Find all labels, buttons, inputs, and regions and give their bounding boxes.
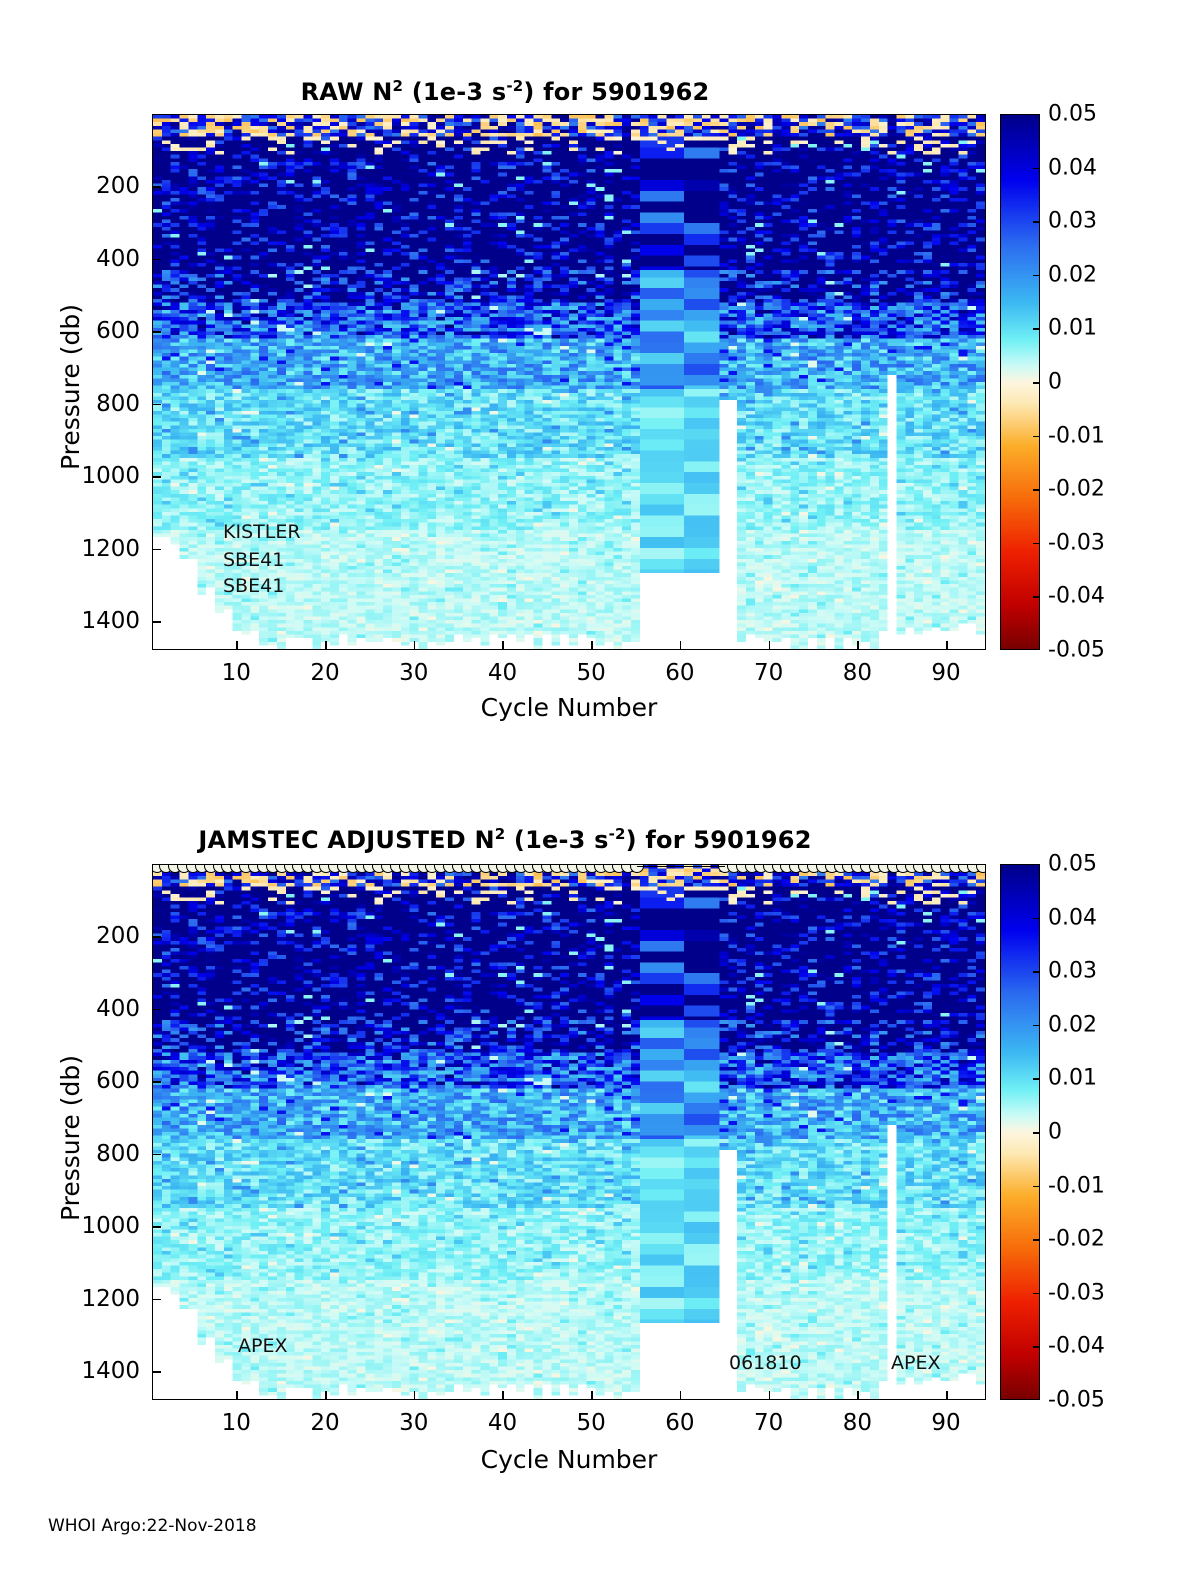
colorbar-tick-mark-2 [1033,971,1040,973]
colorbar-tick-label-4: 0.01 [1048,316,1097,341]
panel-adjusted-title: JAMSTEC ADJUSTED N2 (1e-3 s-2) for 59019… [0,826,1010,854]
x-axis-label-adjusted: Cycle Number [152,1445,986,1474]
title-text-tail: (1e-3 s [403,78,506,106]
colorbar-tick-label-10: -0.05 [1048,638,1105,663]
y-tick-mark-600 [152,331,161,333]
colorbar-tick-label-2: 0.03 [1048,959,1097,984]
colorbar-tick-mark-6 [1033,436,1040,438]
x-tick-mark-50 [591,1391,593,1400]
y-tick-label-400: 400 [0,246,140,272]
x-tick-label-50: 50 [577,1410,606,1436]
x-tick-label-70: 70 [754,1410,783,1436]
x-tick-mark-30 [414,1391,416,1400]
x-tick-mark-40 [502,1391,504,1400]
title-text-end: ) for 5901962 [626,826,812,854]
y-axis-label-adjusted: Pressure (db) [56,1055,85,1221]
y-tick-mark-800 [152,404,161,406]
colorbar-tick-mark-2 [1033,221,1040,223]
annotation-platform-apex-left: APEX [238,1335,287,1357]
colorbar-tick-label-0: 0.05 [1048,102,1097,127]
x-tick-label-40: 40 [488,1410,517,1436]
y-tick-label-400: 400 [0,996,140,1022]
y-axis-label-raw: Pressure (db) [56,304,85,470]
x-tick-mark-20 [325,641,327,650]
annotation-instrument-kistler: KISTLER [223,521,301,543]
x-tick-label-50: 50 [577,660,606,686]
y-tick-mark-200 [152,186,161,188]
colorbar-tick-label-1: 0.04 [1048,905,1097,930]
colorbar-tick-label-3: 0.02 [1048,1012,1097,1037]
x-tick-mark-60 [680,641,682,650]
colorbar-tick-label-5: 0 [1048,1120,1062,1145]
figure-footer: WHOI Argo:22-Nov-2018 [48,1516,257,1536]
x-tick-mark-10 [236,1391,238,1400]
colorbar-tick-label-6: -0.01 [1048,1173,1105,1198]
x-tick-mark-70 [769,1391,771,1400]
x-tick-mark-30 [414,641,416,650]
colorbar-tick-label-8: -0.03 [1048,530,1105,555]
y-tick-mark-200 [152,936,161,938]
y-tick-mark-1200 [152,549,161,551]
x-tick-mark-60 [680,1391,682,1400]
colorbar-tick-label-1: 0.04 [1048,155,1097,180]
x-tick-mark-40 [502,641,504,650]
colorbar-tick-mark-7 [1033,489,1040,491]
title-text-tail: (1e-3 s [505,826,608,854]
x-tick-label-20: 20 [310,1410,339,1436]
x-tick-label-60: 60 [665,1410,694,1436]
x-tick-label-90: 90 [931,1410,960,1436]
colorbar-tick-mark-4 [1033,1078,1040,1080]
y-tick-mark-400 [152,1009,161,1011]
colorbar-tick-mark-7 [1033,1239,1040,1241]
title-text-main: RAW N [301,78,393,106]
annotation-sensor-sbe41-a: SBE41 [223,549,284,571]
colorbar-tick-mark-1 [1033,918,1040,920]
y-tick-mark-600 [152,1081,161,1083]
colorbar-tick-mark-9 [1033,1346,1040,1348]
x-tick-label-30: 30 [399,1410,428,1436]
colorbar-tick-mark-1 [1033,168,1040,170]
annotation-sensor-061810: 061810 [729,1352,802,1374]
x-tick-mark-80 [857,641,859,650]
colorbar-tick-label-5: 0 [1048,370,1062,395]
heatmap-plot-raw[interactable]: KISTLER SBE41 SBE41 [152,114,986,650]
colorbar-tick-mark-3 [1033,275,1040,277]
y-tick-mark-1400 [152,621,161,623]
panel-adjusted: JAMSTEC ADJUSTED N2 (1e-3 s-2) for 59019… [0,745,1200,1505]
y-tick-label-1400: 1400 [0,608,140,634]
colorbar-tick-label-2: 0.03 [1048,209,1097,234]
title-superscript-2: -2 [609,825,626,843]
colorbar-tick-label-7: -0.02 [1048,1227,1105,1252]
colorbar-tick-label-6: -0.01 [1048,423,1105,448]
x-tick-label-70: 70 [754,660,783,686]
colorbar-tick-mark-9 [1033,596,1040,598]
y-tick-mark-1200 [152,1299,161,1301]
y-tick-mark-1000 [152,1226,161,1228]
title-text-main: JAMSTEC ADJUSTED N [198,826,494,854]
y-tick-mark-1000 [152,476,161,478]
x-tick-label-80: 80 [843,1410,872,1436]
title-text-end: ) for 5901962 [523,78,709,106]
colorbar-tick-mark-8 [1033,1293,1040,1295]
y-tick-mark-1400 [152,1371,161,1373]
colorbar-tick-label-0: 0.05 [1048,852,1097,877]
x-tick-label-60: 60 [665,660,694,686]
colorbar-tick-label-8: -0.03 [1048,1280,1105,1305]
cycle-marker-row[interactable] [153,864,986,875]
colorbar-tick-label-10: -0.05 [1048,1388,1105,1413]
y-tick-label-1400: 1400 [0,1358,140,1384]
colorbar-tick-label-3: 0.02 [1048,262,1097,287]
heatmap-canvas-adjusted [153,865,985,1399]
x-tick-mark-50 [591,641,593,650]
x-tick-mark-90 [946,1391,948,1400]
x-tick-label-30: 30 [399,660,428,686]
y-tick-label-1200: 1200 [0,536,140,562]
x-tick-label-40: 40 [488,660,517,686]
marker-row-gap-line [637,866,726,867]
title-superscript: 2 [393,77,404,95]
title-superscript-2: -2 [506,77,523,95]
colorbar-tick-mark-5 [1033,1132,1040,1134]
y-tick-mark-400 [152,259,161,261]
x-tick-label-10: 10 [222,1410,251,1436]
x-tick-label-90: 90 [931,660,960,686]
colorbar-tick-label-4: 0.01 [1048,1066,1097,1091]
title-superscript: 2 [495,825,506,843]
colorbar-tick-mark-8 [1033,543,1040,545]
heatmap-plot-adjusted[interactable]: APEX 061810 APEX [152,864,986,1400]
colorbar-tick-mark-3 [1033,1025,1040,1027]
y-tick-label-200: 200 [0,173,140,199]
x-tick-mark-70 [769,641,771,650]
colorbar-tick-mark-6 [1033,1186,1040,1188]
annotation-sensor-sbe41-b: SBE41 [223,575,284,597]
x-tick-label-80: 80 [843,660,872,686]
panel-raw: RAW N2 (1e-3 s-2) for 5901962 KISTLER SB… [0,0,1200,760]
x-tick-label-10: 10 [222,660,251,686]
y-tick-label-1200: 1200 [0,1286,140,1312]
colorbar-tick-mark-5 [1033,382,1040,384]
colorbar-tick-label-9: -0.04 [1048,1334,1105,1359]
x-tick-mark-20 [325,1391,327,1400]
x-axis-label-raw: Cycle Number [152,693,986,722]
y-tick-mark-800 [152,1154,161,1156]
colorbar-tick-label-9: -0.04 [1048,584,1105,609]
colorbar-tick-mark-4 [1033,328,1040,330]
x-tick-mark-90 [946,641,948,650]
y-tick-label-200: 200 [0,923,140,949]
x-tick-mark-10 [236,641,238,650]
panel-raw-title: RAW N2 (1e-3 s-2) for 5901962 [0,78,1010,106]
x-tick-mark-80 [857,1391,859,1400]
annotation-platform-apex-right: APEX [891,1352,940,1374]
colorbar-tick-label-7: -0.02 [1048,477,1105,502]
x-tick-label-20: 20 [310,660,339,686]
